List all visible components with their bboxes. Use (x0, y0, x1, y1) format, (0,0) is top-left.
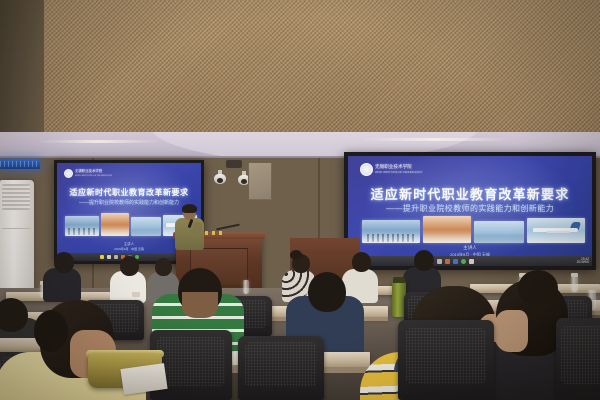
building-photo (101, 213, 129, 236)
water-bottle (243, 280, 249, 294)
institution-logo-icon (360, 163, 373, 176)
taskbar-clock[interactable]: 15:422019/9/6 (577, 258, 589, 265)
slide-subtitle: ——提升职业院校教师的实践能力和创新能力 (348, 203, 592, 214)
right-screen-surface: 无锡职业技术学院 WUXI INSTITUTE OF TECHNOLOGY 适应… (348, 156, 592, 266)
harbor-photo (131, 217, 161, 236)
wechat-icon[interactable] (461, 259, 466, 264)
media-icon[interactable] (469, 259, 474, 264)
slide-photo-strip (362, 216, 585, 243)
right-screen-taskbar[interactable]: 15:422019/9/6 (348, 256, 592, 266)
cityscape-photo (65, 216, 99, 236)
slide-logo-sub: WUXI INSTITUTE OF TECHNOLOGY (75, 175, 112, 177)
air-conditioner-seam (2, 228, 30, 229)
water-bottle (571, 276, 578, 292)
lecture-hall-photo: EPSON 无锡职业技术学院 WUXI INSTITUTE OF TECHNOL… (0, 0, 600, 400)
cove-light (38, 140, 158, 143)
wood-slat-wall (44, 0, 600, 132)
slide-logo-main: 无锡职业技术学院 (375, 164, 412, 169)
blue-led-strip-texture (0, 161, 40, 167)
aircraft-photo (527, 218, 585, 243)
wall-notice-panel (248, 162, 272, 200)
slide-logo-main: 无锡职业技术学院 (75, 169, 102, 173)
cove-light (360, 138, 510, 141)
slide-presenter: 主讲人 (348, 245, 592, 251)
cityscape-photo (362, 220, 420, 243)
institution-logo-icon (64, 169, 73, 178)
presenter-at-podium (172, 205, 206, 249)
chair[interactable] (398, 320, 494, 400)
slide-title: 适应新时代职业教育改革新要求 (57, 187, 201, 198)
bottle-cap (571, 273, 578, 277)
windows-start-icon[interactable] (100, 255, 104, 259)
bottle-cap (132, 292, 140, 297)
security-camera-left (214, 170, 226, 184)
powerpoint-icon[interactable] (445, 259, 450, 264)
air-conditioner-grill (2, 184, 30, 210)
right-projection-screen[interactable]: 无锡职业技术学院 WUXI INSTITUTE OF TECHNOLOGY 适应… (344, 152, 596, 270)
slide-title: 适应新时代职业教育改革新要求 (348, 184, 592, 203)
harbor-photo (474, 221, 524, 243)
chair[interactable] (238, 336, 324, 400)
wall-speaker (226, 160, 242, 168)
slide-logo-block: 无锡职业技术学院 WUXI INSTITUTE OF TECHNOLOGY (360, 163, 423, 176)
browser-icon[interactable] (114, 255, 118, 259)
building-photo (423, 216, 471, 243)
slide-logo-block: 无锡职业技术学院 WUXI INSTITUTE OF TECHNOLOGY (64, 169, 112, 178)
folder-icon[interactable] (107, 255, 111, 259)
chair[interactable] (556, 318, 600, 400)
browser-icon[interactable] (437, 259, 442, 264)
wall-left-dark (0, 0, 44, 132)
slide-logo-sub: WUXI INSTITUTE OF TECHNOLOGY (375, 170, 423, 174)
green-bottle-cap (393, 277, 405, 283)
word-icon[interactable] (453, 259, 458, 264)
